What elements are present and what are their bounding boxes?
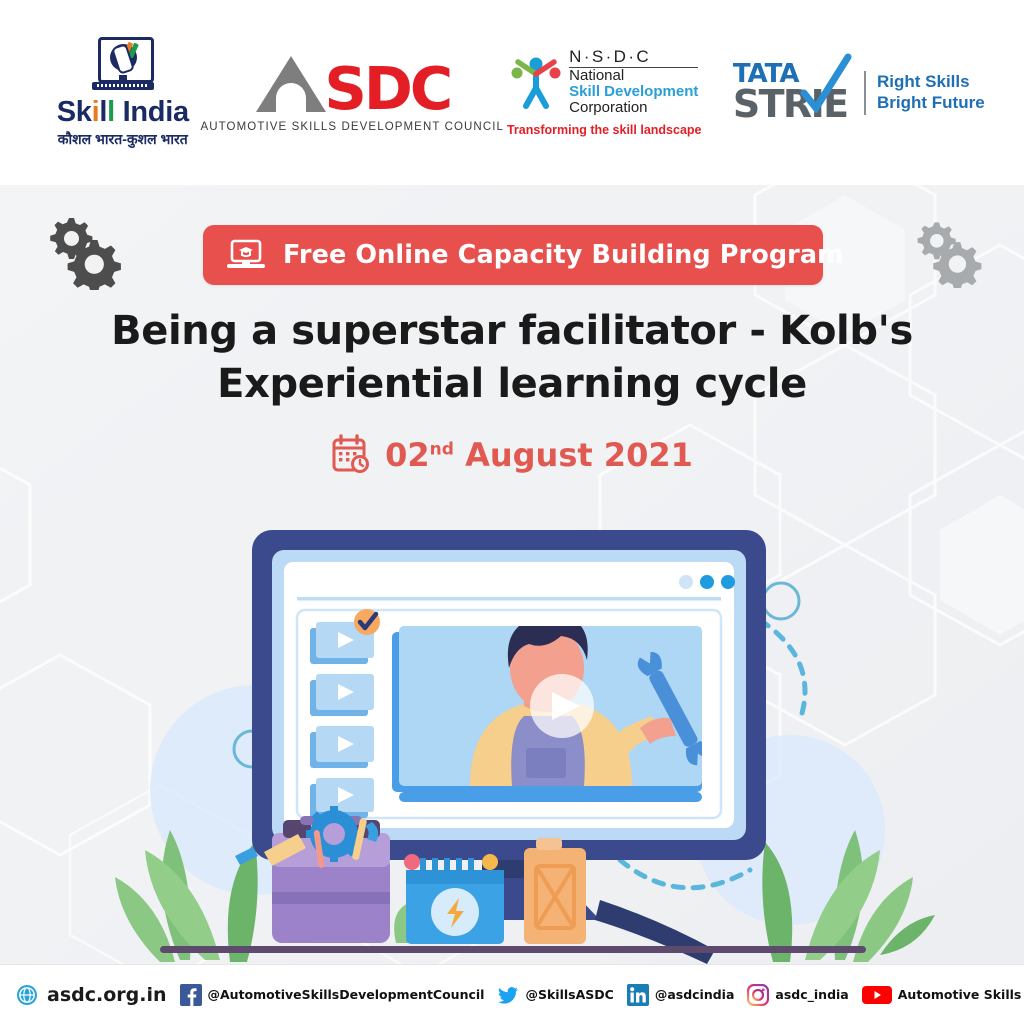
logo-tata-strive: TATA STRIE Right Skills Bright Future bbox=[731, 63, 986, 121]
logo-asdc: SDC AUTOMOTIVE SKILLS DEVELOPMENT COUNCI… bbox=[227, 52, 477, 133]
banner-label: Free Online Capacity Building Program bbox=[283, 240, 844, 270]
logo-skill-india: Skill India कौशल भारत-कुशल भारत bbox=[38, 37, 208, 149]
asdc-subtitle: AUTOMOTIVE SKILLS DEVELOPMENT COUNCIL bbox=[200, 121, 504, 133]
event-date: 02nd August 2021 bbox=[385, 436, 693, 474]
website-link[interactable]: asdc.org.in bbox=[16, 984, 167, 1006]
floor-line bbox=[160, 946, 866, 953]
video-area[interactable] bbox=[392, 616, 713, 802]
event-date-row: 02nd August 2021 bbox=[0, 434, 1024, 476]
a-triangle-icon bbox=[254, 54, 328, 114]
tata-tagline-2: Bright Future bbox=[877, 93, 985, 113]
nsdc-line-2: Skill Development bbox=[569, 84, 698, 100]
divider bbox=[864, 71, 867, 115]
monitor-keyboard-icon bbox=[92, 37, 154, 93]
header-logo-bar: Skill India कौशल भारत-कुशल भारत SDC AUTO… bbox=[0, 0, 1024, 185]
youtube-icon bbox=[862, 984, 892, 1006]
nsdc-line-3: Corporation bbox=[569, 100, 698, 116]
instagram-handle: asdc_india bbox=[775, 987, 848, 1002]
online-learning-illustration bbox=[0, 500, 1024, 965]
social-instagram[interactable]: asdc_india bbox=[747, 984, 848, 1006]
nsdc-line-1: National bbox=[569, 68, 698, 84]
facebook-handle: @AutomotiveSkillsDevelopmentCouncil bbox=[208, 987, 485, 1002]
social-youtube[interactable]: Automotive Skills Development Council bbox=[862, 984, 1024, 1006]
checkmark-badge bbox=[354, 609, 380, 635]
globe-icon bbox=[16, 984, 38, 1006]
social-twitter[interactable]: @SkillsASDC bbox=[497, 984, 613, 1006]
page-title: Being a superstar facilitator - Kolb's E… bbox=[62, 305, 962, 411]
nsdc-abbreviation: N·S·D·C bbox=[569, 48, 698, 68]
linkedin-icon bbox=[627, 984, 649, 1006]
car-battery bbox=[404, 854, 504, 944]
jerrycan bbox=[524, 838, 586, 944]
strive-wordmark: STRIE bbox=[733, 87, 848, 121]
twitter-handle: @SkillsASDC bbox=[525, 987, 613, 1002]
instagram-icon bbox=[747, 984, 769, 1006]
poster: Skill India कौशल भारत-कुशल भारत SDC AUTO… bbox=[0, 0, 1024, 1024]
gear-pair-icon-right bbox=[912, 218, 986, 288]
window-dots bbox=[679, 575, 735, 589]
tata-tagline-1: Right Skills bbox=[877, 72, 985, 92]
title-line-1: Being a superstar facilitator - Kolb's bbox=[62, 305, 962, 358]
nsdc-tagline: Transforming the skill landscape bbox=[507, 123, 702, 137]
website-text: asdc.org.in bbox=[47, 984, 167, 1006]
play-button[interactable] bbox=[530, 674, 594, 738]
social-facebook[interactable]: @AutomotiveSkillsDevelopmentCouncil bbox=[180, 984, 485, 1006]
logo-nsdc: N·S·D·C National Skill Development Corpo… bbox=[497, 48, 712, 137]
people-star-icon bbox=[510, 54, 562, 110]
twitter-icon bbox=[497, 984, 519, 1006]
asdc-wordmark: SDC bbox=[324, 64, 450, 114]
social-linkedin[interactable]: @asdcindia bbox=[627, 984, 735, 1006]
skill-india-wordmark: Skill India bbox=[57, 98, 189, 127]
laptop-graduation-cap-icon bbox=[227, 239, 265, 271]
youtube-handle: Automotive Skills Development Council bbox=[898, 987, 1024, 1002]
calendar-clock-icon bbox=[331, 434, 371, 476]
footer-bar: asdc.org.in @AutomotiveSkillsDevelopment… bbox=[0, 964, 1024, 1024]
title-line-2: Experiential learning cycle bbox=[62, 358, 962, 411]
facebook-icon bbox=[180, 984, 202, 1006]
program-type-banner[interactable]: Free Online Capacity Building Program bbox=[203, 225, 823, 285]
social-links: @AutomotiveSkillsDevelopmentCouncil @Ski… bbox=[167, 984, 1024, 1006]
linkedin-handle: @asdcindia bbox=[655, 987, 735, 1002]
gear-pair-icon-left bbox=[44, 214, 126, 290]
skill-india-hindi-tagline: कौशल भारत-कुशल भारत bbox=[58, 130, 188, 149]
